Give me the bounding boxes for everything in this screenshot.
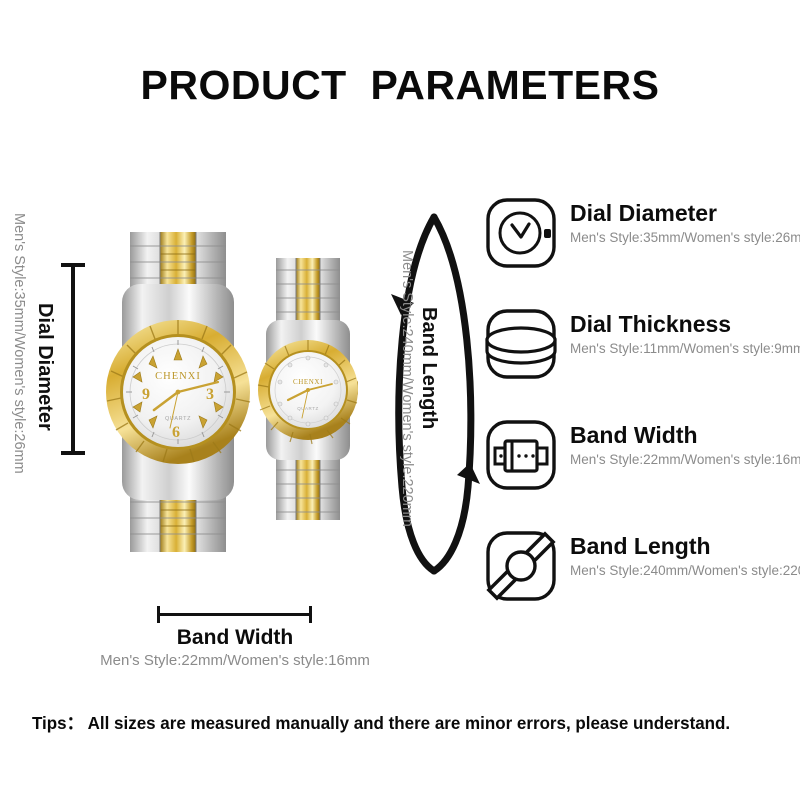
numeral-6: 6	[172, 424, 180, 441]
parameter-text-band-width: Band Width Men's Style:22mm/Women's styl…	[570, 422, 800, 467]
parameter-row-dial-diameter: Dial Diameter Men's Style:35mm/Women's s…	[484, 196, 800, 307]
measure-cap-left-icon	[157, 606, 160, 623]
movement-text: QUARTZ	[165, 416, 191, 422]
page-title: PRODUCT PARAMETERS	[0, 62, 800, 109]
parameter-title: Dial Thickness	[570, 311, 800, 338]
band-width-label: Band Width	[95, 626, 375, 650]
cylinder-thickness-icon	[484, 307, 558, 381]
movement-text: QUARTZ	[297, 406, 318, 411]
numeral-3: 3	[206, 386, 214, 403]
parameter-sub: Men's Style:22mm/Women's style:16mm	[570, 452, 800, 467]
tips-note: Tips： All sizes are measured manually an…	[32, 710, 750, 735]
measure-cap-right-icon	[309, 606, 312, 623]
product-parameters-infographic: PRODUCT PARAMETERS Dial Diameter Men's S…	[0, 0, 800, 800]
horizontal-measure-bar-icon	[157, 613, 312, 616]
parameter-text-dial-thickness: Dial Thickness Men's Style:11mm/Women's …	[570, 311, 800, 356]
band-length-dimension: Band Length Men's Style:240mm/Women's st…	[388, 195, 484, 585]
dial-diameter-label: Dial Diameter	[33, 303, 56, 431]
watch-dial-icon	[484, 196, 558, 270]
parameter-sub: Men's Style:240mm/Women's style:220mm	[570, 563, 800, 578]
numeral-9: 9	[142, 386, 150, 403]
band-length-label: Band Length	[417, 307, 440, 429]
parameter-row-band-length: Band Length Men's Style:240mm/Women's st…	[484, 529, 800, 640]
parameter-title: Band Width	[570, 422, 800, 449]
parameter-row-band-width: Band Width Men's Style:22mm/Women's styl…	[484, 418, 800, 529]
band-buckle-icon	[484, 418, 558, 492]
mens-watch-image: 9 3 6 CHENXI QUARTZ	[102, 232, 254, 552]
measure-cap-top-icon	[61, 263, 85, 267]
diagonal-strap-icon	[484, 529, 558, 603]
parameter-title: Dial Diameter	[570, 200, 800, 227]
parameter-list: Dial Diameter Men's Style:35mm/Women's s…	[484, 196, 800, 640]
band-length-sub: Men's Style:240mm/Women's style:220mm	[399, 250, 415, 527]
dial-diameter-sub: Men's Style:35mm/Women's style:26mm	[11, 213, 27, 474]
womens-watch-image: CHENXI QUARTZ	[252, 258, 364, 520]
parameter-text-band-length: Band Length Men's Style:240mm/Women's st…	[570, 533, 800, 578]
parameter-row-dial-thickness: Dial Thickness Men's Style:11mm/Women's …	[484, 307, 800, 418]
dial-diameter-dimension: Dial Diameter Men's Style:35mm/Women's s…	[0, 185, 100, 575]
brand-text: CHENXI	[155, 371, 201, 382]
parameter-sub: Men's Style:11mm/Women's style:9mm	[570, 341, 800, 356]
band-width-sub: Men's Style:22mm/Women's style:16mm	[90, 652, 380, 669]
parameter-text-dial-diameter: Dial Diameter Men's Style:35mm/Women's s…	[570, 200, 800, 245]
brand-text: CHENXI	[293, 378, 323, 386]
parameter-sub: Men's Style:35mm/Women's style:26mm	[570, 230, 800, 245]
measure-cap-bottom-icon	[61, 451, 85, 455]
vertical-measure-bar-icon	[71, 265, 75, 453]
parameter-title: Band Length	[570, 533, 800, 560]
